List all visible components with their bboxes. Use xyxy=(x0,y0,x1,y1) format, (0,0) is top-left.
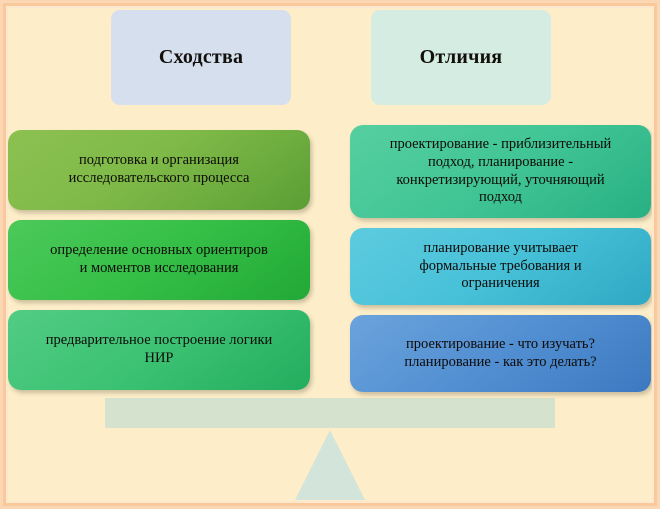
balance-fulcrum-triangle xyxy=(294,429,366,501)
similarity-card-text: предварительное построение логики НИР xyxy=(46,332,273,367)
header-differences: Отличия xyxy=(371,10,551,105)
balance-beam xyxy=(105,398,555,428)
similarity-card-text: подготовка и организация исследовательск… xyxy=(69,152,250,187)
similarity-card: определение основных ориентиров и момент… xyxy=(8,220,310,300)
difference-card-text: проектирование - что изучать? планирован… xyxy=(404,336,596,371)
header-similarities: Сходства xyxy=(111,10,291,105)
header-differences-label: Отличия xyxy=(420,46,503,69)
similarity-card: подготовка и организация исследовательск… xyxy=(8,130,310,210)
difference-card: планирование учитывает формальные требов… xyxy=(350,228,651,305)
similarity-card: предварительное построение логики НИР xyxy=(8,310,310,390)
similarity-card-text: определение основных ориентиров и момент… xyxy=(50,242,268,277)
difference-card: проектирование - приблизительный подход,… xyxy=(350,125,651,218)
difference-card: проектирование - что изучать? планирован… xyxy=(350,315,651,392)
difference-card-text: проектирование - приблизительный подход,… xyxy=(390,136,612,207)
slide-canvas: Сходства Отличия подготовка и организаци… xyxy=(0,0,660,509)
header-similarities-label: Сходства xyxy=(159,46,243,69)
difference-card-text: планирование учитывает формальные требов… xyxy=(419,240,581,293)
